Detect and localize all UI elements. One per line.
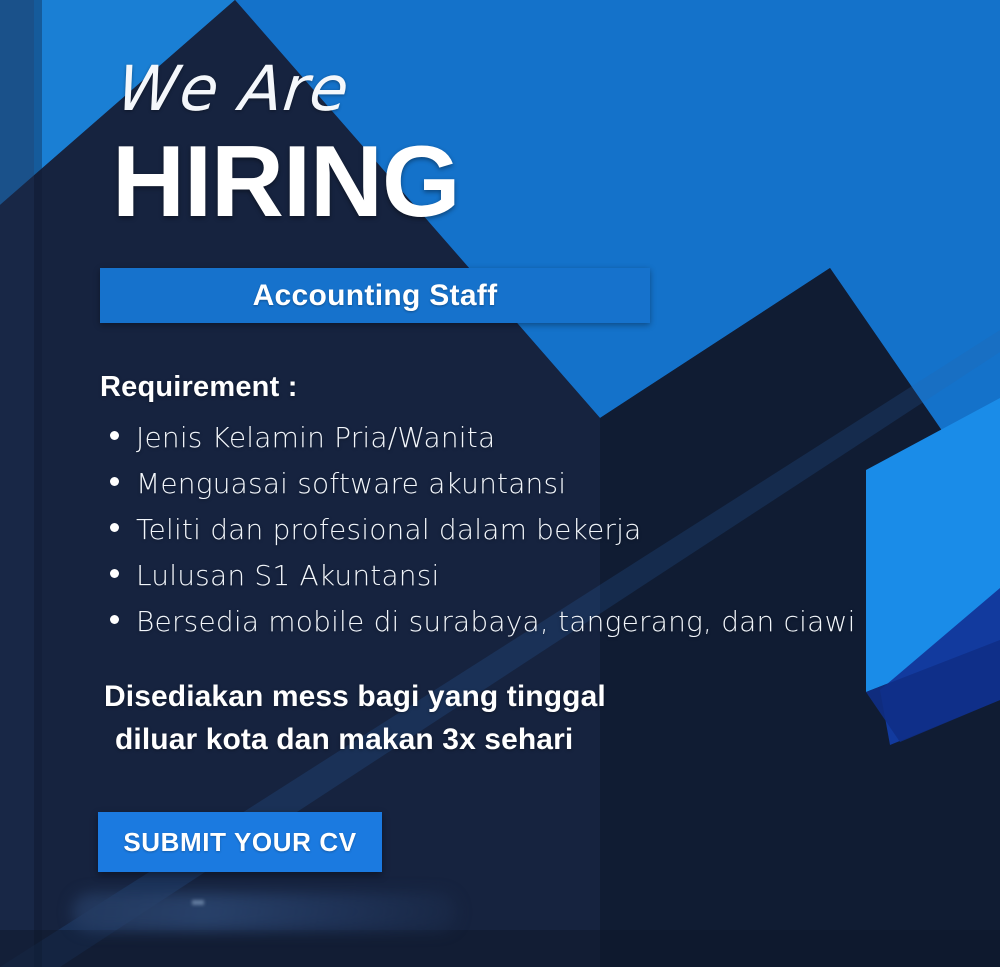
- redacted-contact-strip: [72, 893, 457, 931]
- poster-content: We Are HIRING Accounting Staff Requireme…: [0, 0, 1000, 967]
- requirements-heading: Requirement :: [100, 371, 298, 404]
- bullet-icon: [110, 477, 119, 486]
- headline-hiring: HIRING: [112, 132, 460, 233]
- bullet-icon: [110, 523, 119, 532]
- list-item: Menguasai software akuntansi: [110, 470, 856, 498]
- requirement-text: Menguasai software akuntansi: [136, 470, 566, 498]
- list-item: Teliti dan profesional dalam bekerja: [110, 516, 856, 544]
- bullet-icon: [110, 569, 119, 578]
- redacted-speck: [192, 900, 204, 905]
- requirement-text: Teliti dan profesional dalam bekerja: [136, 516, 641, 544]
- benefit-note: Disediakan mess bagi yang tinggal diluar…: [104, 676, 606, 761]
- role-banner: Accounting Staff: [100, 268, 650, 323]
- headline-script: We Are: [115, 58, 353, 120]
- list-item: Bersedia mobile di surabaya, tangerang, …: [110, 608, 856, 636]
- submit-cv-label: SUBMIT YOUR CV: [123, 827, 356, 858]
- requirements-list: Jenis Kelamin Pria/Wanita Menguasai soft…: [110, 424, 856, 654]
- bullet-icon: [110, 615, 119, 624]
- hiring-poster: We Are HIRING Accounting Staff Requireme…: [0, 0, 1000, 967]
- list-item: Jenis Kelamin Pria/Wanita: [110, 424, 856, 452]
- list-item: Lulusan S1 Akuntansi: [110, 562, 856, 590]
- requirement-text: Lulusan S1 Akuntansi: [136, 562, 440, 590]
- bullet-icon: [110, 431, 119, 440]
- submit-cv-button[interactable]: SUBMIT YOUR CV: [98, 812, 382, 872]
- benefit-note-line-2: diluar kota dan makan 3x sehari: [104, 719, 606, 762]
- role-title: Accounting Staff: [253, 279, 498, 313]
- benefit-note-line-1: Disediakan mess bagi yang tinggal: [104, 680, 606, 713]
- requirement-text: Bersedia mobile di surabaya, tangerang, …: [136, 608, 856, 636]
- requirement-text: Jenis Kelamin Pria/Wanita: [136, 424, 495, 452]
